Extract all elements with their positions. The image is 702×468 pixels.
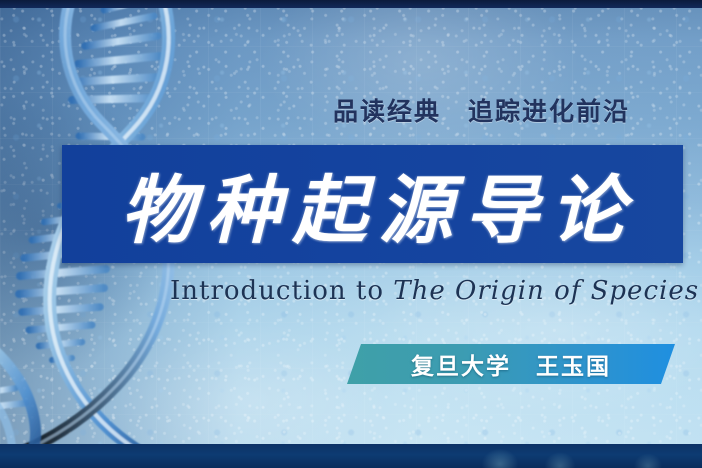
author-institution-text: 复旦大学 王玉国 [347, 344, 675, 384]
course-title-english: Introduction to The Origin of Species [170, 276, 699, 306]
english-title-work: The Origin of Species [393, 276, 699, 306]
title-banner: 物种起源导论 [62, 145, 683, 263]
course-title-chinese: 物种起源导论 [62, 145, 683, 263]
tagline-text: 品读经典 追踪进化前沿 [333, 92, 630, 128]
english-title-prefix: Introduction to [170, 276, 393, 306]
author-bar: 复旦大学 王玉国 [347, 344, 675, 384]
course-title-card: 品读经典 追踪进化前沿 物种起源导论 Introduction to The O… [0, 0, 702, 468]
bottom-navy-band [0, 444, 702, 468]
top-navy-band [0, 0, 702, 8]
